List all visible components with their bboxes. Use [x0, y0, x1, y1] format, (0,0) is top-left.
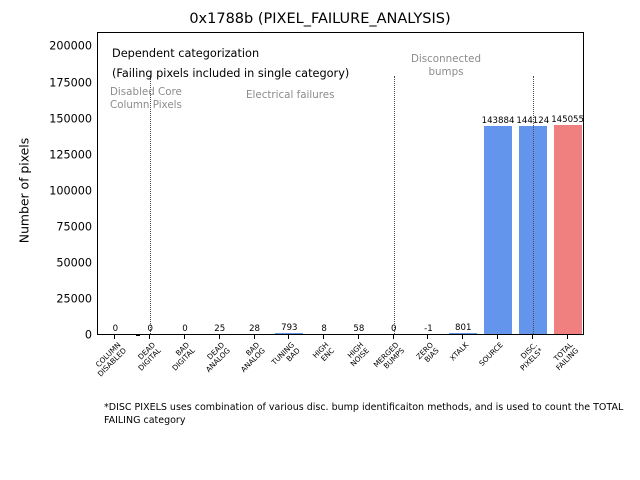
x-tick-label: DEAD DIGITAL	[131, 341, 163, 373]
x-tick-mark	[497, 335, 498, 339]
bar	[554, 125, 582, 334]
plot-area: 00025287938580-1801143884144124145055Dep…	[97, 32, 584, 335]
category-divider-line	[394, 76, 395, 334]
bar-value-label: 143884	[482, 116, 515, 126]
annotation-disabled-core-column-pixels: Disabled Core Column Pixels	[110, 86, 182, 112]
x-tick-mark	[184, 335, 185, 339]
y-tick-label: 100000	[49, 184, 92, 197]
bar	[275, 333, 303, 334]
annotation-electrical-failures: Electrical failures	[246, 89, 335, 102]
x-tick-label: DEAD ANALOG	[199, 341, 233, 375]
x-tick-label: DISC. PIXELS*	[514, 341, 546, 373]
bar-value-label: 0	[182, 324, 187, 334]
x-tick-label: BAD DIGITAL	[166, 341, 198, 373]
bar-value-label: -1	[424, 324, 433, 334]
y-tick-label: 75000	[56, 220, 92, 233]
annotation-failing-pixels-note: (Failing pixels included in single categ…	[112, 66, 349, 82]
x-tick-label: COLUMN DISABLED	[90, 341, 128, 379]
bar-value-label: 58	[353, 324, 364, 334]
y-tick-label: 50000	[56, 256, 92, 269]
x-tick-label: XTALK	[448, 341, 470, 363]
bar-value-label: 0	[113, 324, 118, 334]
footnote: *DISC PIXELS uses combination of various…	[104, 401, 632, 428]
x-tick-label: TOTAL FAILING	[549, 341, 581, 373]
bar-value-label: 793	[281, 323, 297, 333]
y-tick-label: 200000	[49, 40, 92, 53]
category-divider-line	[533, 76, 534, 334]
y-axis-title: Number of pixels	[17, 81, 32, 301]
x-tick-mark	[114, 335, 115, 339]
x-tick-mark	[323, 335, 324, 339]
x-tick-label: BAD ANALOG	[234, 341, 268, 375]
bar	[484, 126, 512, 334]
bar-value-label: 801	[455, 323, 471, 333]
annotation-dependent-categorization: Dependent categorization	[112, 46, 259, 62]
y-tick-label: 175000	[49, 76, 92, 89]
x-tick-label: ZERO BIAS	[415, 341, 441, 367]
bar-value-label: 8	[321, 324, 326, 334]
y-tick-label: 25000	[56, 292, 92, 305]
chart-title: 0x1788b (PIXEL_FAILURE_ANALYSIS)	[0, 11, 640, 27]
x-tick-mark	[358, 335, 359, 339]
y-tick-label: 0	[85, 329, 92, 342]
x-tick-mark	[149, 335, 150, 339]
y-tick-label: 125000	[49, 148, 92, 161]
bar	[449, 333, 477, 334]
x-tick-mark	[288, 335, 289, 339]
bar-value-label: 145055	[551, 115, 583, 125]
x-tick-label: HIGH ENC	[312, 341, 337, 366]
x-tick-mark	[393, 335, 394, 339]
bar-value-label: 28	[249, 324, 260, 334]
y-tick-label: 150000	[49, 112, 92, 125]
x-tick-mark	[254, 335, 255, 339]
annotation-disconnected-bumps: Disconnected bumps	[411, 53, 481, 79]
y-tick-mark	[136, 335, 140, 336]
pixel-failure-analysis-figure: 0x1788b (PIXEL_FAILURE_ANALYSIS) Number …	[0, 0, 640, 480]
x-tick-label: MERGED BUMPS	[372, 341, 406, 375]
x-tick-mark	[567, 335, 568, 339]
x-tick-mark	[427, 335, 428, 339]
x-tick-mark	[462, 335, 463, 339]
x-tick-label: SOURCE	[478, 341, 505, 368]
category-divider-line	[150, 76, 151, 334]
x-tick-label: HIGH NOISE	[344, 341, 372, 369]
x-tick-mark	[532, 335, 533, 339]
x-tick-label: TUNING BAD	[270, 341, 302, 373]
y-axis-tick-labels: 0250005000075000100000125000150000175000…	[44, 32, 92, 335]
plot-inner: 00025287938580-1801143884144124145055Dep…	[98, 33, 583, 334]
bar-value-label: 25	[214, 324, 225, 334]
x-tick-mark	[219, 335, 220, 339]
